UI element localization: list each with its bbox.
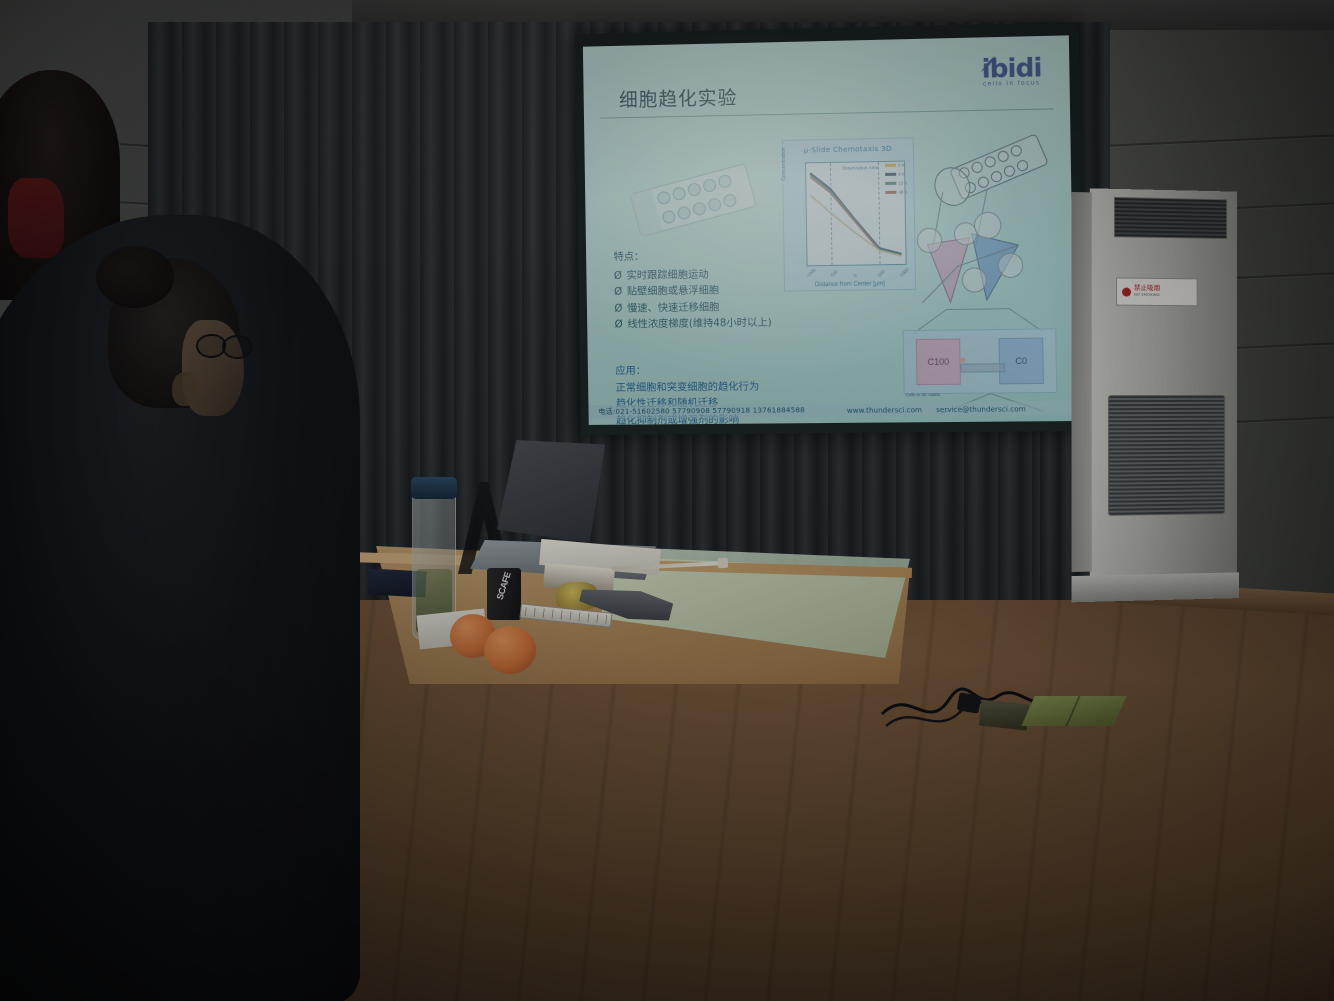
legend-item: 12 h bbox=[885, 179, 911, 188]
bullet-glyph: Ø bbox=[614, 267, 627, 284]
air-conditioner-unit: 禁止吸烟NO SMOKING bbox=[1090, 188, 1237, 575]
ibidi-swoosh-icon bbox=[978, 53, 1001, 76]
person-ear bbox=[172, 372, 198, 406]
chart-xtick: 1000 bbox=[899, 267, 910, 278]
chart-xtick: 0 bbox=[853, 273, 858, 278]
feature-text: 线性浓度梯度(维持48小时以上) bbox=[627, 317, 771, 331]
ac-top-vent bbox=[1114, 197, 1227, 239]
ac-bottom-vent bbox=[1108, 395, 1225, 516]
bullet-glyph: Ø bbox=[614, 300, 627, 317]
legend-label: 6 h bbox=[898, 172, 904, 177]
footer-phone: 电话:021-51602580 57790908 57790918 137618… bbox=[598, 405, 805, 417]
chart-xtick: 500 bbox=[877, 269, 886, 278]
feature-item: Ø线性浓度梯度(维持48小时以上) bbox=[615, 314, 843, 333]
chamber-right-reservoir: C0 bbox=[999, 338, 1044, 385]
eyeglass-lens-right bbox=[222, 335, 252, 359]
red-scarf bbox=[8, 178, 64, 258]
features-block: 特点： Ø实时跟踪细胞运动 Ø贴壁细胞或悬浮细胞 Ø慢速、快速迁移细胞 Ø线性浓… bbox=[613, 246, 842, 333]
legend-swatch bbox=[885, 182, 896, 185]
legend-item: 6 h bbox=[885, 169, 911, 178]
ibidi-tagline: cells in focus bbox=[972, 80, 1051, 88]
person-hair bbox=[96, 246, 174, 308]
bottle-cap bbox=[411, 477, 457, 499]
legend-swatch bbox=[885, 191, 896, 194]
no-smoking-icon bbox=[1122, 287, 1131, 296]
cable-cover-mat bbox=[1021, 696, 1126, 726]
legend-swatch bbox=[885, 164, 896, 167]
cells-matrix-caption: Cells in 3D matrix bbox=[906, 392, 941, 397]
bullet-glyph: Ø bbox=[614, 284, 627, 301]
legend-label: 48 h bbox=[898, 190, 907, 195]
chart-ylabel: Concentration bbox=[781, 147, 787, 181]
chamber-left-reservoir: C100 bbox=[916, 339, 961, 386]
page-title: 细胞趋化实验 bbox=[619, 83, 738, 112]
pointer-tip bbox=[718, 558, 729, 569]
legend-item: 0 h bbox=[885, 160, 911, 170]
legend-item: 48 h bbox=[885, 188, 911, 197]
no-smoking-text-cn: 禁止吸烟NO SMOKING bbox=[1134, 285, 1160, 299]
legend-swatch bbox=[885, 173, 896, 176]
ac-base bbox=[1072, 572, 1239, 602]
product-photo-slide bbox=[619, 154, 773, 241]
photo-scene: 细胞趋化实验 ibidi cells in focus bbox=[0, 0, 1334, 1001]
feature-text: 慢速、快速迁移细胞 bbox=[627, 301, 719, 314]
eyeglasses bbox=[196, 334, 248, 356]
projection-screen[interactable]: 细胞趋化实验 ibidi cells in focus bbox=[575, 22, 1085, 435]
ibidi-logo: ibidi cells in focus bbox=[972, 58, 1051, 88]
ac-side-panel bbox=[1072, 192, 1092, 572]
legend-label: 0 h bbox=[898, 163, 904, 168]
presentation-slide: 细胞趋化实验 ibidi cells in focus bbox=[583, 35, 1075, 425]
feature-text: 实时跟踪细胞运动 bbox=[627, 268, 709, 281]
chamber-diagram: C100 C0 bbox=[903, 328, 1058, 394]
bullet-glyph: Ø bbox=[615, 316, 628, 333]
no-smoking-text-en: NO SMOKING bbox=[1134, 292, 1160, 299]
features-heading: 特点： bbox=[613, 246, 841, 266]
feature-text: 贴壁细胞或悬浮细胞 bbox=[627, 284, 719, 297]
slide-footer: 电话:021-51602580 57790908 57790918 137618… bbox=[588, 401, 1074, 419]
chart-legend: 0 h 6 h 12 h 48 h bbox=[885, 160, 912, 197]
laser-pointer-dot bbox=[959, 357, 966, 364]
footer-email: service@thundersci.com bbox=[936, 404, 1026, 414]
chart-title: µ-Slide Chemotaxis 3D bbox=[783, 143, 913, 154]
coffee-can: SCAFE bbox=[487, 568, 521, 620]
no-smoking-sign: 禁止吸烟NO SMOKING bbox=[1116, 277, 1198, 306]
chamber-observation-channel bbox=[961, 363, 1006, 373]
orange-fruit bbox=[484, 626, 536, 674]
cable-plug bbox=[957, 692, 982, 714]
legend-label: 12 h bbox=[898, 181, 907, 186]
coffee-can-label: SCAFE bbox=[495, 569, 514, 601]
footer-website: www.thundersci.com bbox=[847, 405, 922, 415]
